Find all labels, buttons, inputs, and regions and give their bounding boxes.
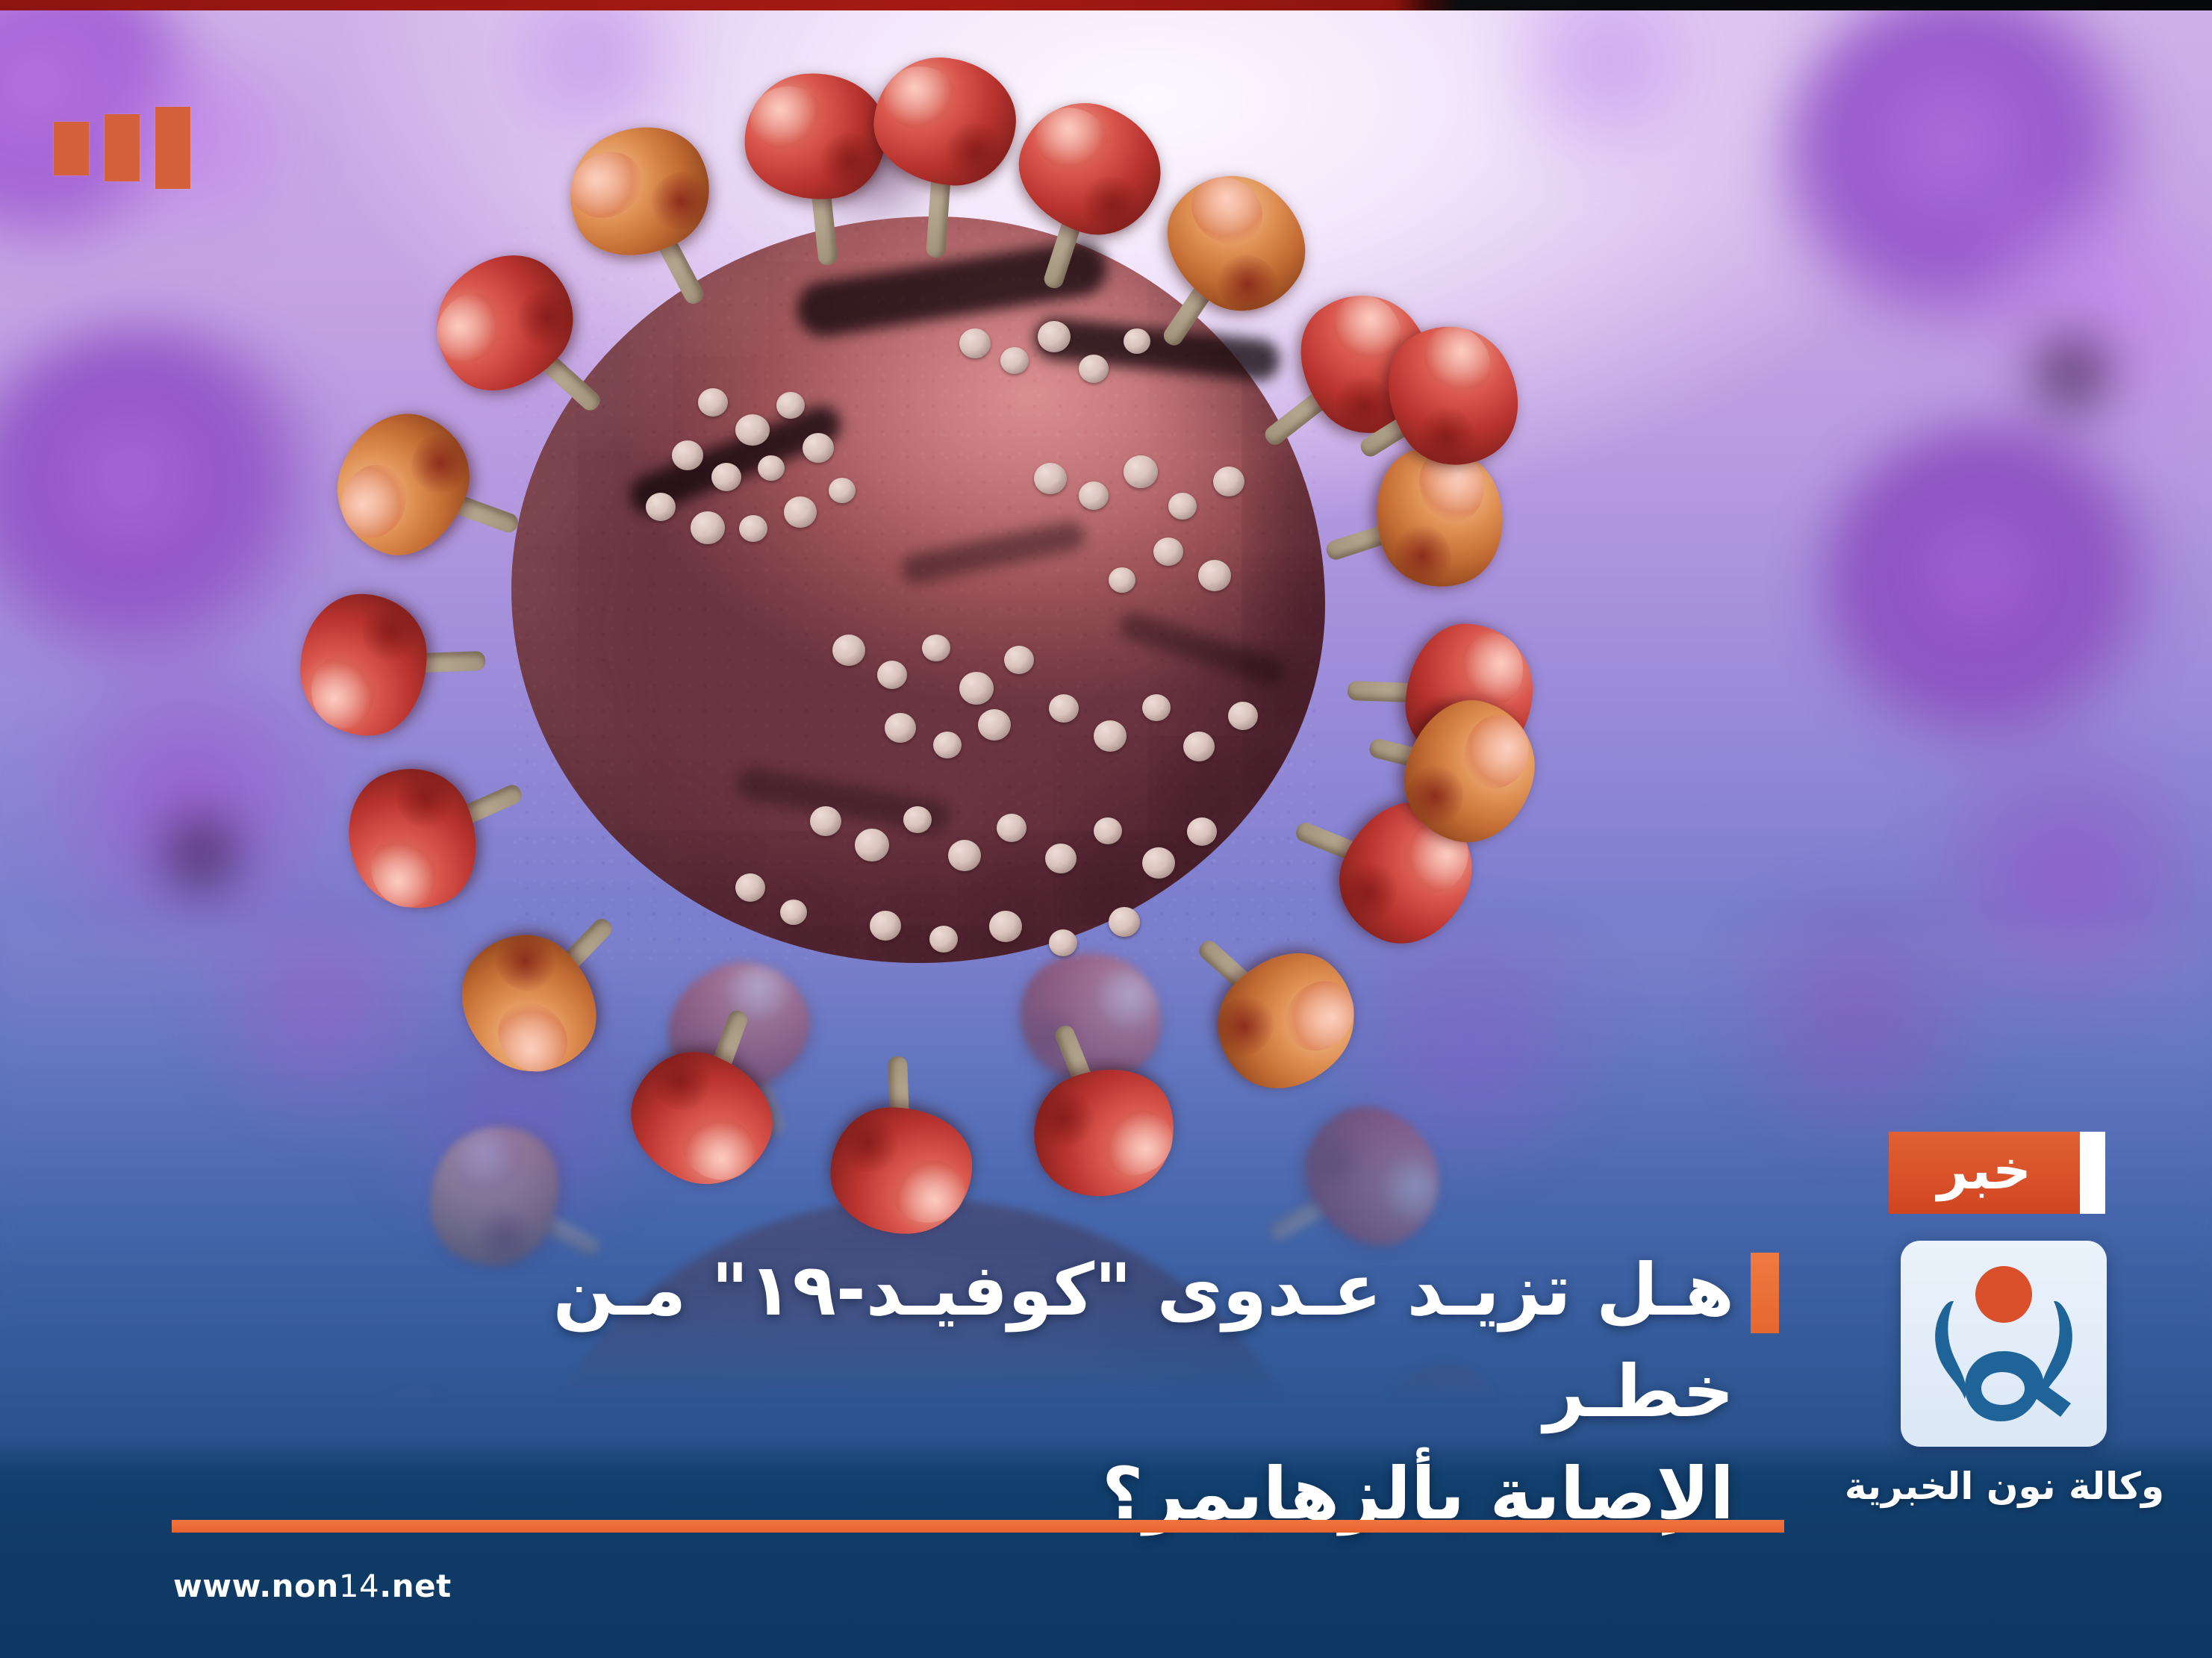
news-badge-tail: [2080, 1132, 2105, 1214]
footer-divider: [172, 1520, 1784, 1533]
news-poster: خبر هـل تزيـد عـدوى "كوفيـد-١٩" مـن خطـر…: [0, 0, 2212, 1658]
coronavirus-icon: [340, 71, 1504, 1235]
url-name: non: [272, 1568, 339, 1604]
page-title: هـل تزيـد عـدوى "كوفيـد-١٩" مـن خطـر الإ…: [465, 1239, 1734, 1545]
url-digits: 14: [339, 1568, 379, 1604]
url-tld: net: [392, 1568, 452, 1604]
headline-line-1: هـل تزيـد عـدوى "كوفيـد-١٩" مـن خطـر: [465, 1239, 1734, 1443]
news-category-badge[interactable]: خبر: [1889, 1132, 2080, 1214]
news-category-label: خبر: [1937, 1143, 2031, 1203]
site-url[interactable]: www.non14.net: [173, 1568, 452, 1604]
top-color-strip: [0, 0, 2212, 10]
three-bars-icon: [54, 107, 190, 189]
url-dot: .: [379, 1568, 391, 1604]
headline-accent-bar: [1751, 1253, 1779, 1333]
noon-agency-logo-icon[interactable]: [1901, 1241, 2107, 1447]
url-prefix: www.: [173, 1568, 272, 1604]
agency-name: وكالة نون الخبرية: [1807, 1465, 2202, 1508]
